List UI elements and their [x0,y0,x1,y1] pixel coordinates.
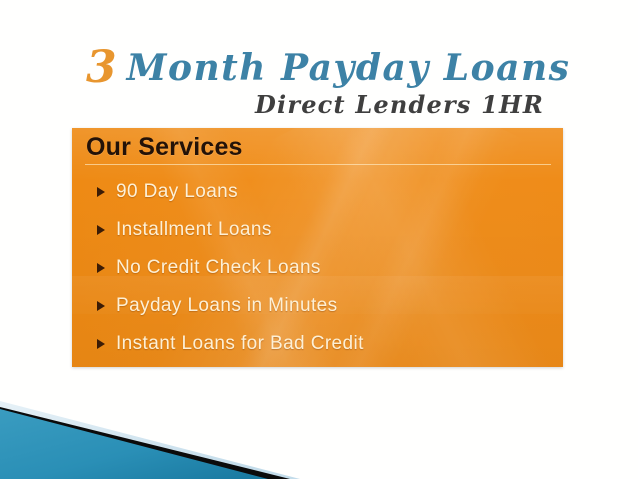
logo-digit: 3 [86,42,117,93]
triangle-right-icon [94,261,108,275]
slide-canvas: 3Month Payday Loans Direct Lenders 1HR O… [0,0,638,479]
logo-primary-line: 3Month Payday Loans [86,46,570,90]
list-item[interactable]: No Credit Check Loans [94,249,563,287]
service-label: Payday Loans in Minutes [116,295,338,317]
service-label: Instant Loans for Bad Credit [116,333,364,355]
triangle-right-icon [94,185,108,199]
ribbon-teal-wedge [0,409,268,479]
service-label: No Credit Check Loans [116,257,321,279]
panel-title-divider [85,164,551,165]
panel-title: Our Services [86,133,243,162]
list-item[interactable]: Instant Loans for Bad Credit [94,325,563,363]
logo-tagline: Direct Lenders 1HR [255,90,544,119]
list-item[interactable]: Installment Loans [94,211,563,249]
decorative-ribbon [0,393,300,479]
service-label: 90 Day Loans [116,181,238,203]
services-panel: Our Services 90 Day Loans Installment Lo… [72,128,563,367]
ribbon-graphic [0,393,300,479]
triangle-right-icon [94,337,108,351]
brand-logo: 3Month Payday Loans Direct Lenders 1HR [86,46,556,118]
list-item[interactable]: 90 Day Loans [94,173,563,211]
logo-wordmark: Month Payday Loans [127,47,571,89]
ribbon-black-stripe [0,407,290,479]
services-list: 90 Day Loans Installment Loans No Credit… [94,173,563,363]
triangle-right-icon [94,299,108,313]
ribbon-light-stripe [0,401,300,479]
service-label: Installment Loans [116,219,272,241]
triangle-right-icon [94,223,108,237]
list-item[interactable]: Payday Loans in Minutes [94,287,563,325]
